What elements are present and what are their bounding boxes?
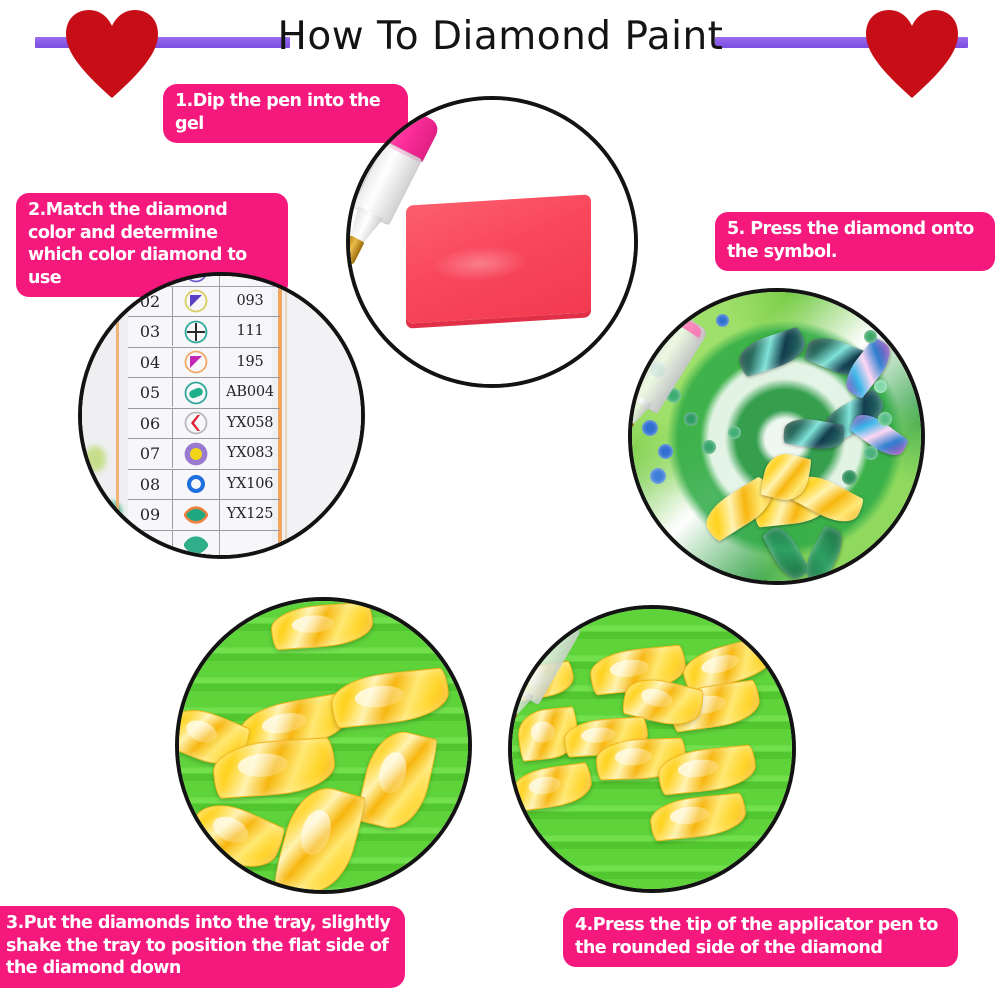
step-5-label: 5. Press the diamond onto the symbol. [715,212,995,271]
photo-pen-picking-up-diamond [508,605,796,893]
diamond-gem [354,725,440,836]
diamond-gem [648,792,748,842]
round-drill [842,470,857,485]
chart-row-number: 04 [128,348,173,377]
infographic-canvas: How To Diamond Paint 1.Dip the pen into … [0,0,1001,1001]
pen-metal-tip [508,707,518,746]
color-chart-row: 07YX083 [128,439,280,470]
round-drill [728,426,741,439]
chart-row-number: 07 [128,439,173,468]
diamond-gem [272,779,369,894]
chart-row-code: YX058 [220,409,280,438]
chart-row-number: 05 [128,378,173,407]
chart-orange-line-right-2 [285,272,287,559]
chart-row-code: 093 [220,287,280,316]
photo-diamonds-in-tray [175,597,472,894]
color-chart-row: 03111 [128,317,280,348]
chart-row-code: YX106 [220,470,280,499]
chevron-left-icon [173,409,220,439]
chart-row-code: YX125 [220,500,280,529]
pink-gel-pad [406,194,591,323]
chart-row-code: AB004 [220,378,280,407]
color-chart-table: 0102802093031110419505AB00406YX05807YX08… [128,272,280,559]
diamond-gem [184,793,288,879]
leaf-icon [173,500,220,530]
chart-row-number: 03 [128,317,173,346]
chart-row-number: 02 [128,287,173,316]
photo-color-symbol-chart: 0102802093031110419505AB00406YX05807YX08… [78,272,365,559]
gel-photo-background [350,100,634,384]
mandala-photo-background [632,292,921,581]
color-chart-row: 09YX125 [128,500,280,531]
photo-press-diamond-onto-symbol [628,288,925,585]
ring-icon [173,470,220,500]
chart-paper-right-margin [288,276,365,559]
green-tray-background [512,609,792,889]
round-drill [874,380,887,393]
chart-row-number: 09 [128,500,173,529]
round-drill [864,330,877,343]
color-chart-row: 05AB004 [128,378,280,409]
round-drill [702,440,716,454]
chart-row-code: 111 [220,317,280,346]
color-chart-row: 04195 [128,348,280,379]
leaf-icon [173,531,220,560]
color-chart-row: 10 [128,531,280,560]
step-3-label: 3.Put the diamonds into the tray, slight… [0,906,405,988]
step-4-label: 4.Press the tip of the applicator pen to… [563,908,958,967]
triangle-icon [173,287,220,317]
chart-photo-background: 0102802093031110419505AB00406YX05807YX08… [82,276,361,555]
chart-row-number: 08 [128,470,173,499]
photo-pen-dipped-in-gel [346,96,638,388]
pill-icon [173,378,220,408]
round-drill [658,444,673,459]
green-tray-background [179,601,468,890]
chart-row-number: 10 [128,531,173,559]
chart-row-code: 195 [220,348,280,377]
round-drill [684,412,698,426]
round-drill [716,314,729,327]
diamond-gem [270,601,375,650]
color-chart-row: 06YX058 [128,409,280,440]
filled-dot-icon [173,439,220,469]
diamond-gem [510,762,595,813]
blurred-green-mark [84,446,106,472]
triangle-icon [173,348,220,378]
chart-row-code: YX083 [220,439,280,468]
color-chart-row: 02093 [128,287,280,318]
chart-row-number: 06 [128,409,173,438]
chart-orange-line-left [116,272,119,559]
diamond-gem [329,667,452,729]
plus-icon [173,317,220,347]
page-title: How To Diamond Paint [0,10,1001,64]
round-drill [864,446,878,460]
round-drill [650,468,666,484]
round-drill [878,412,892,426]
color-chart-row: 08YX106 [128,470,280,501]
